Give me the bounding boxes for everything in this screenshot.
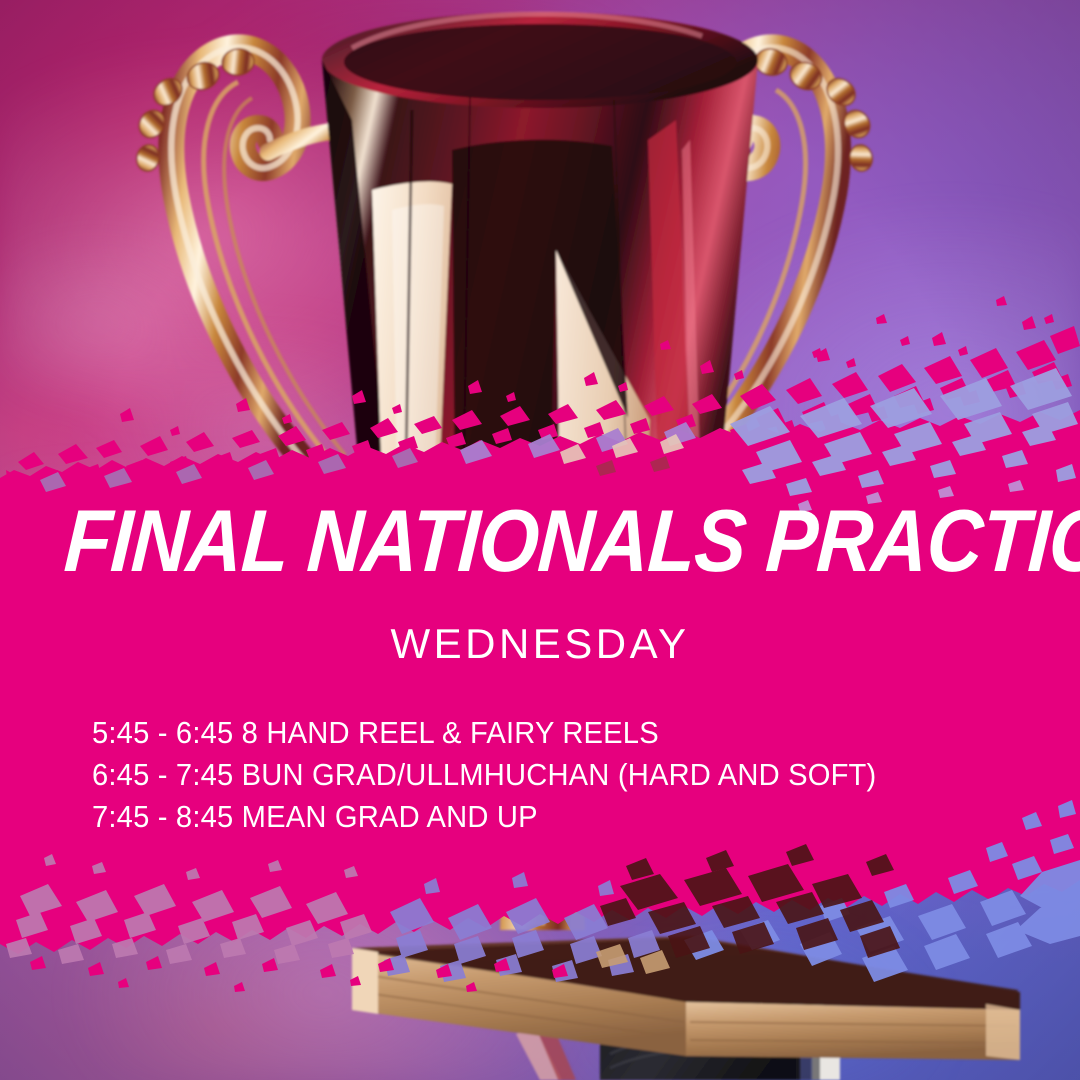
schedule-item: 5:45 - 6:45 8 HAND REEL & FAIRY REELS <box>92 712 957 754</box>
poster-text-layer: FINAL NATIONALS PRACTICE WEDNESDAY 5:45 … <box>0 0 1080 1080</box>
day-subtitle: WEDNESDAY <box>0 623 1080 665</box>
schedule-list: 5:45 - 6:45 8 HAND REEL & FAIRY REELS 6:… <box>92 712 1012 838</box>
schedule-item: 6:45 - 7:45 BUN GRAD/ULLMHUCHAN (HARD AN… <box>92 754 957 796</box>
schedule-item: 7:45 - 8:45 MEAN GRAD AND UP <box>92 796 957 838</box>
page-title: FINAL NATIONALS PRACTICE <box>62 497 1018 585</box>
poster-canvas: FINAL NATIONALS PRACTICE WEDNESDAY 5:45 … <box>0 0 1080 1080</box>
